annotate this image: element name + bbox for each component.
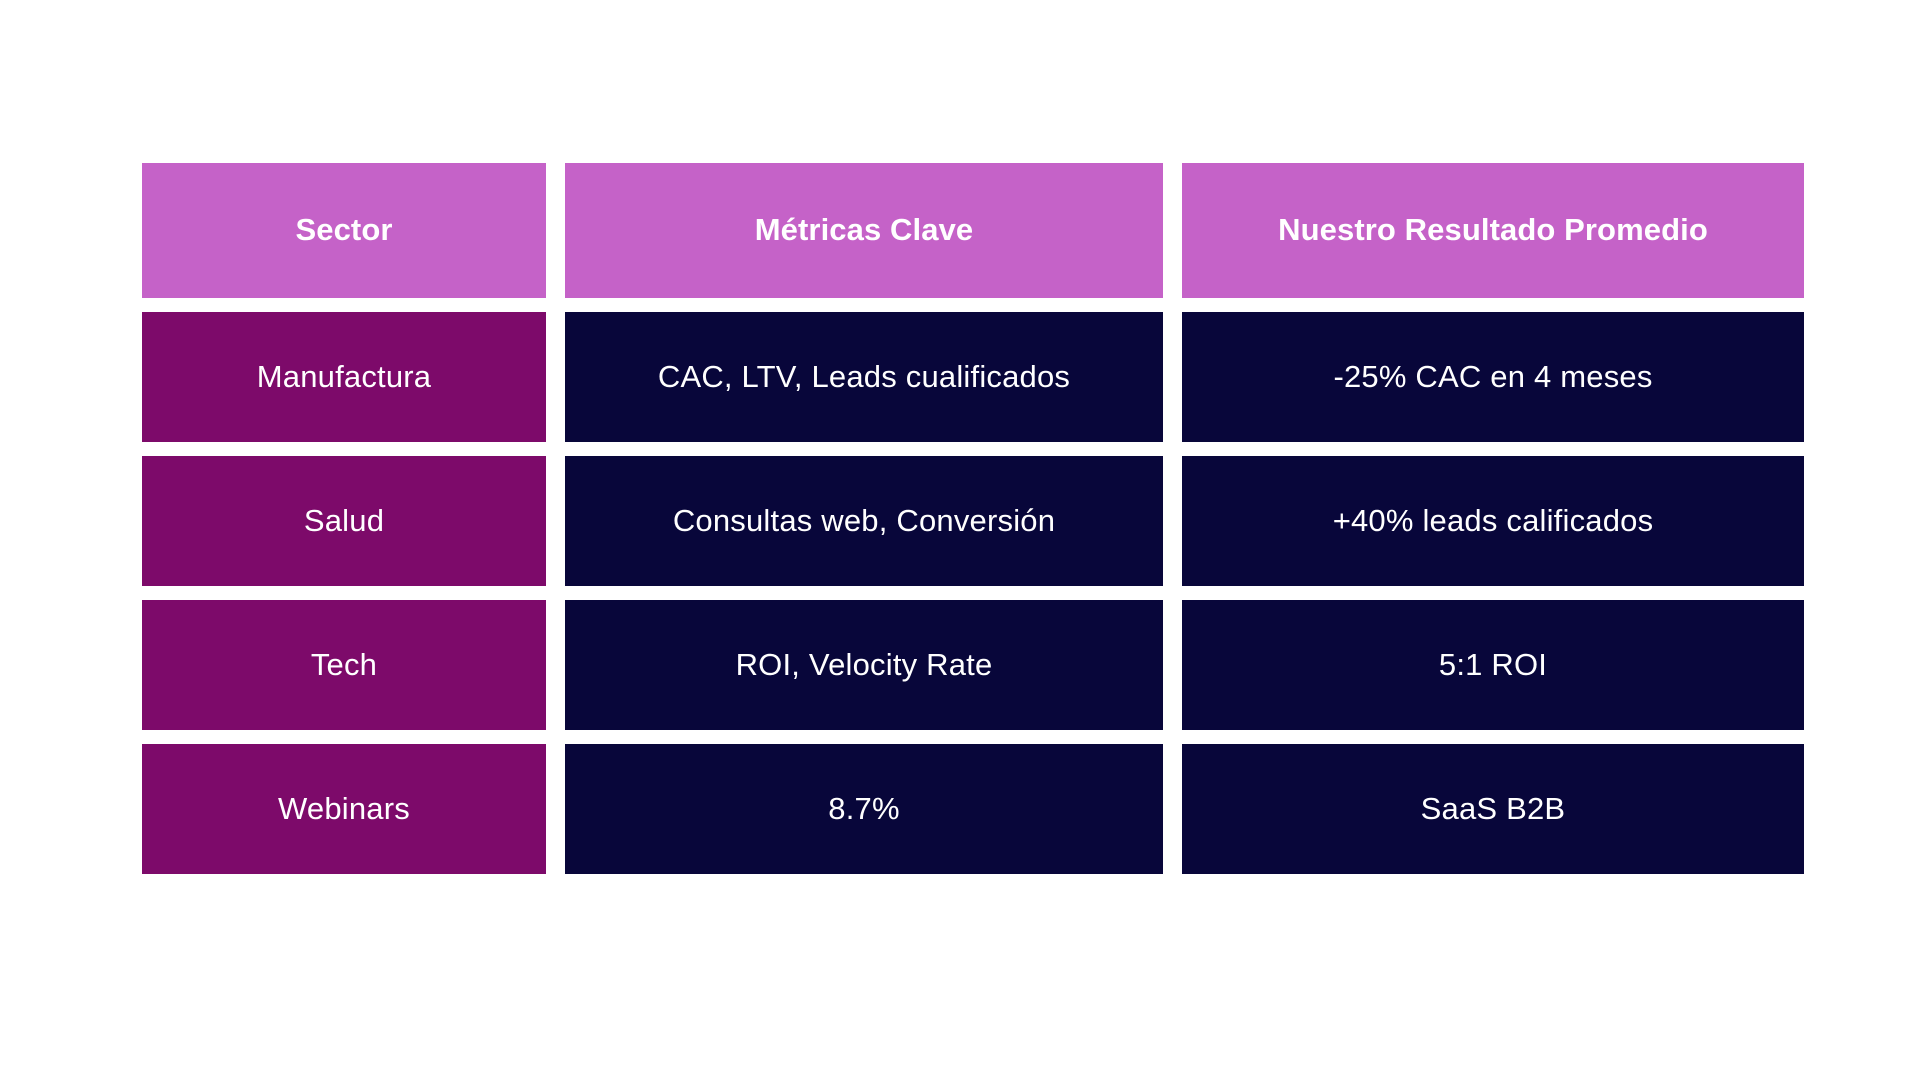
cell-result: 5:1 ROI: [1182, 600, 1804, 730]
cell-sector-text: Tech: [311, 646, 377, 685]
column-header-result-label: Nuestro Resultado Promedio: [1278, 211, 1708, 250]
cell-result-text: 5:1 ROI: [1439, 646, 1547, 685]
cell-sector: Tech: [142, 600, 546, 730]
cell-sector: Manufactura: [142, 312, 546, 442]
table-row: Tech ROI, Velocity Rate 5:1 ROI: [142, 600, 1805, 730]
sector-metrics-table: Sector Métricas Clave Nuestro Resultado …: [142, 163, 1805, 874]
cell-result: +40% leads calificados: [1182, 456, 1804, 586]
page-canvas: Sector Métricas Clave Nuestro Resultado …: [0, 0, 1920, 1080]
cell-result: SaaS B2B: [1182, 744, 1804, 874]
cell-result-text: -25% CAC en 4 meses: [1333, 358, 1652, 397]
table-header-row: Sector Métricas Clave Nuestro Resultado …: [142, 163, 1805, 298]
cell-sector-text: Manufactura: [257, 358, 432, 397]
cell-sector-text: Salud: [304, 502, 384, 541]
cell-sector-text: Webinars: [278, 790, 410, 829]
column-header-metrics: Métricas Clave: [565, 163, 1163, 298]
cell-metrics-text: 8.7%: [828, 790, 899, 829]
cell-metrics-text: Consultas web, Conversión: [673, 502, 1055, 541]
table-row: Manufactura CAC, LTV, Leads cualificados…: [142, 312, 1805, 442]
table-row: Webinars 8.7% SaaS B2B: [142, 744, 1805, 874]
cell-sector: Salud: [142, 456, 546, 586]
cell-metrics: CAC, LTV, Leads cualificados: [565, 312, 1163, 442]
column-header-sector-label: Sector: [295, 211, 392, 250]
cell-result-text: +40% leads calificados: [1333, 502, 1654, 541]
table-row: Salud Consultas web, Conversión +40% lea…: [142, 456, 1805, 586]
cell-metrics: Consultas web, Conversión: [565, 456, 1163, 586]
cell-result: -25% CAC en 4 meses: [1182, 312, 1804, 442]
cell-sector: Webinars: [142, 744, 546, 874]
cell-metrics: 8.7%: [565, 744, 1163, 874]
cell-metrics: ROI, Velocity Rate: [565, 600, 1163, 730]
column-header-metrics-label: Métricas Clave: [755, 211, 974, 250]
cell-metrics-text: ROI, Velocity Rate: [736, 646, 993, 685]
cell-metrics-text: CAC, LTV, Leads cualificados: [658, 358, 1070, 397]
column-header-result: Nuestro Resultado Promedio: [1182, 163, 1804, 298]
column-header-sector: Sector: [142, 163, 546, 298]
cell-result-text: SaaS B2B: [1421, 790, 1566, 829]
